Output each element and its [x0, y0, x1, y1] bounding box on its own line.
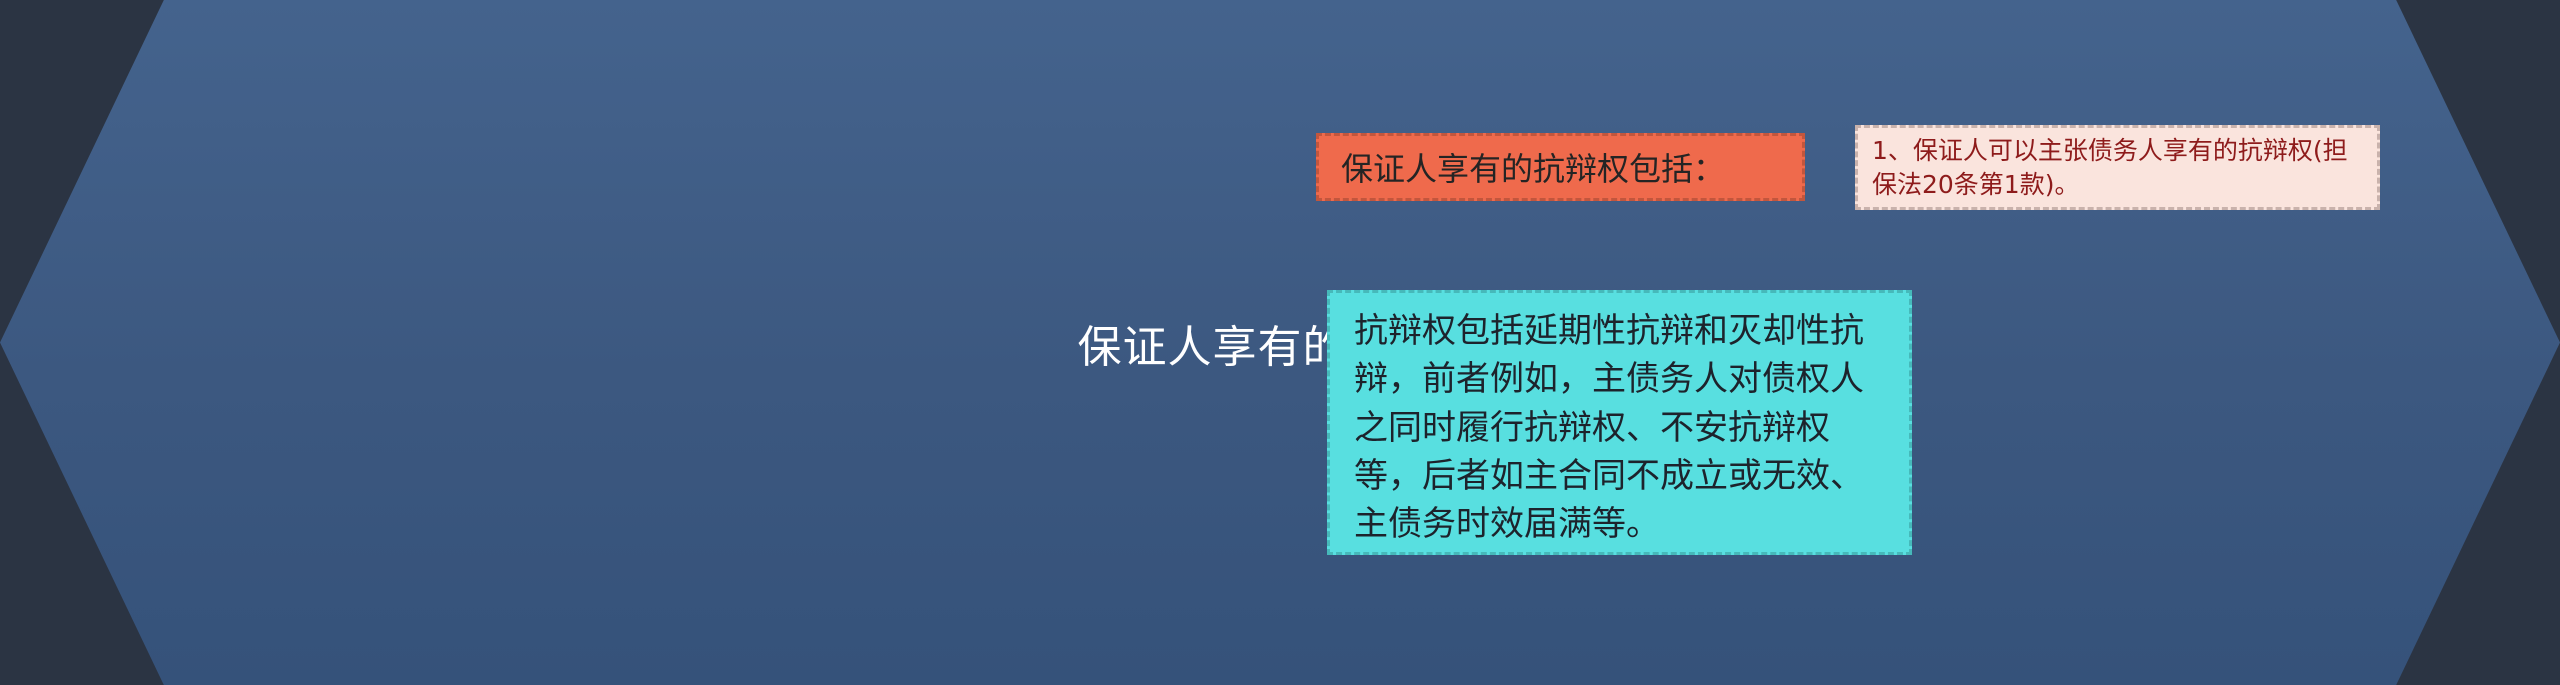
node-item-1-label: 1、保证人可以主张债务人享有的抗辩权(担保法20条第1款)。 — [1872, 134, 2363, 202]
node-root-label: 保证人享有的抗辩权 — [0, 0, 2560, 685]
node-categories[interactable]: 抗辩权包括延期性抗辩和灭却性抗辩，前者例如，主债务人对债权人之同时履行抗辩权、不… — [1327, 290, 1912, 555]
mindmap-canvas: 抗辩权是指债权人行使债权时，债务人根据法定事由，对抗债权人行使请求权的权利(20… — [0, 0, 2560, 685]
node-item-1[interactable]: 1、保证人可以主张债务人享有的抗辩权(担保法20条第1款)。 — [1855, 125, 2380, 210]
node-root[interactable]: 保证人享有的抗辩权 — [0, 0, 500, 105]
node-includes-heading-label: 保证人享有的抗辩权包括： — [1341, 144, 1725, 190]
node-includes-heading[interactable]: 保证人享有的抗辩权包括： — [1316, 133, 1805, 201]
node-categories-label: 抗辩权包括延期性抗辩和灭却性抗辩，前者例如，主债务人对债权人之同时履行抗辩权、不… — [1354, 307, 1885, 548]
